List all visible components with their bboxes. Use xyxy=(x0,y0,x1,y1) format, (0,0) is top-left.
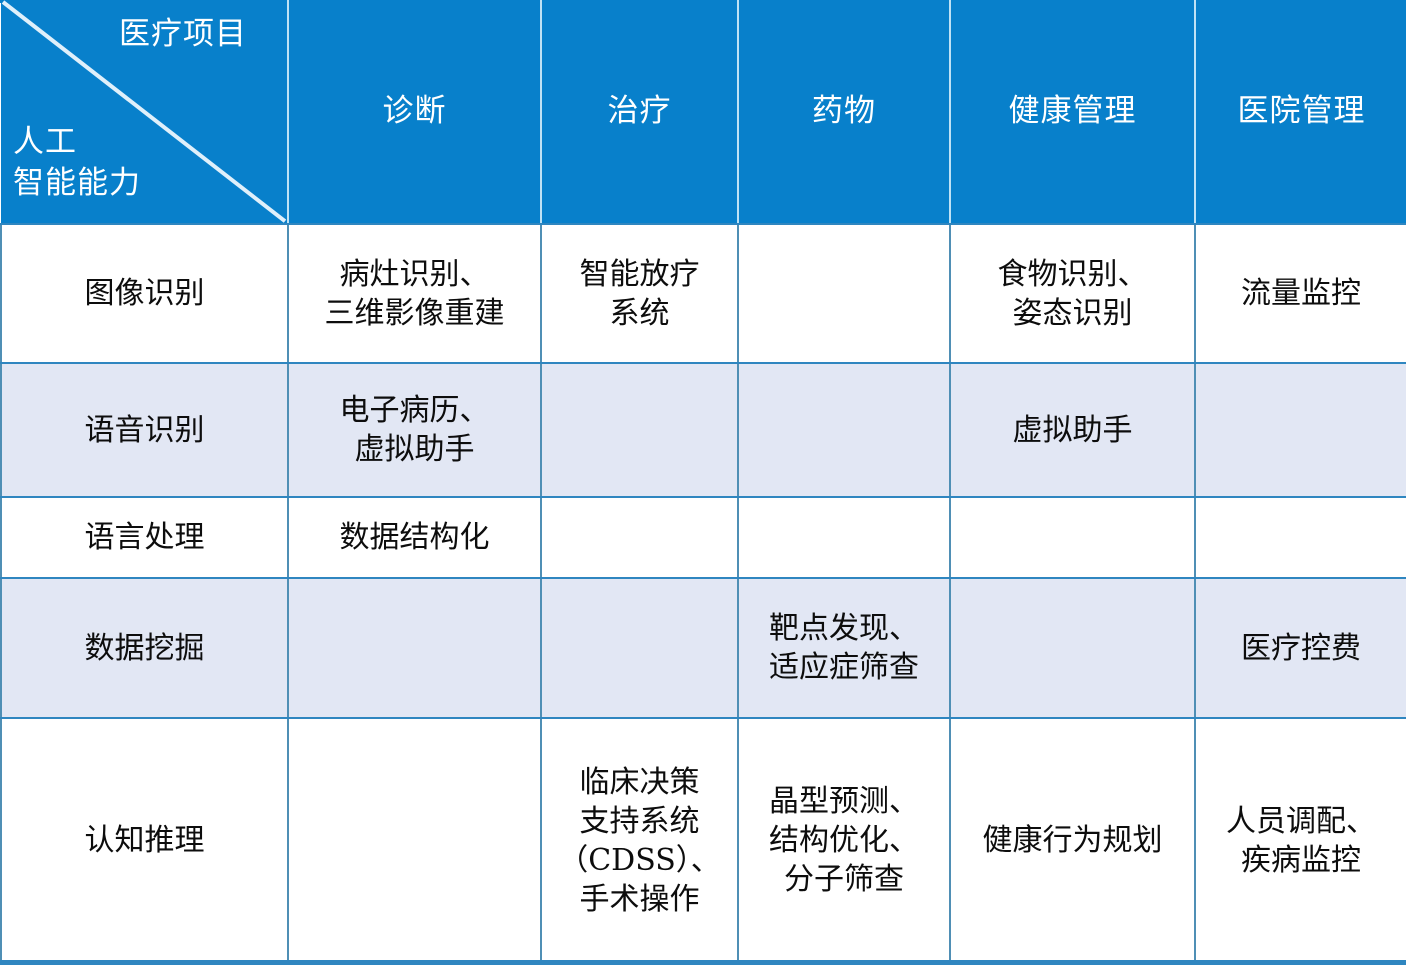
cell-text: 医疗控费 xyxy=(1196,625,1406,672)
cell-language-processing-drug xyxy=(738,497,950,578)
cell-text xyxy=(1196,426,1406,434)
table-row: 认知推理 临床决策 支持系统 （CDSS）、 手术操作 晶型预测、 结构优化、 … xyxy=(1,718,1406,963)
table-row: 图像识别 病灶识别、 三维影像重建 智能放疗 系统 食物识别、 姿态识别 流量监… xyxy=(1,224,1406,363)
cell-text: 病灶识别、 三维影像重建 xyxy=(289,251,540,337)
cell-text: 智能放疗 系统 xyxy=(542,251,737,337)
cell-data-mining-treatment xyxy=(541,578,738,718)
row-header-language-processing: 语言处理 xyxy=(1,497,288,578)
cell-text xyxy=(289,644,540,652)
cell-text: 人员调配、 疾病监控 xyxy=(1196,798,1406,884)
cell-text xyxy=(739,426,949,434)
cell-image-recognition-treatment: 智能放疗 系统 xyxy=(541,224,738,363)
table-header-row: 医疗项目 人工 智能能力 诊断 治疗 药物 健康管理 医院管理 xyxy=(1,0,1406,224)
cell-data-mining-diagnosis xyxy=(288,578,541,718)
row-header-cognitive-reasoning: 认知推理 xyxy=(1,718,288,963)
cell-text xyxy=(542,426,737,434)
table-row: 语音识别 电子病历、 虚拟助手 虚拟助手 xyxy=(1,363,1406,497)
cell-language-processing-hospital-management xyxy=(1195,497,1406,578)
cell-image-recognition-diagnosis: 病灶识别、 三维影像重建 xyxy=(288,224,541,363)
column-header-health-management: 健康管理 xyxy=(950,0,1195,224)
cell-speech-recognition-drug xyxy=(738,363,950,497)
row-header-image-recognition: 图像识别 xyxy=(1,224,288,363)
cell-text: 食物识别、 姿态识别 xyxy=(951,251,1194,337)
cell-text xyxy=(1196,534,1406,542)
cell-cognitive-reasoning-hospital-management: 人员调配、 疾病监控 xyxy=(1195,718,1406,963)
cell-text xyxy=(739,290,949,298)
cell-text: 临床决策 支持系统 （CDSS）、 手术操作 xyxy=(542,759,737,923)
cell-speech-recognition-treatment xyxy=(541,363,738,497)
cell-text xyxy=(739,534,949,542)
table-row: 数据挖掘 靶点发现、 适应症筛查 医疗控费 xyxy=(1,578,1406,718)
cell-image-recognition-health-management: 食物识别、 姿态识别 xyxy=(950,224,1195,363)
cell-data-mining-hospital-management: 医疗控费 xyxy=(1195,578,1406,718)
column-header-treatment: 治疗 xyxy=(541,0,738,224)
cell-cognitive-reasoning-drug: 晶型预测、 结构优化、 分子筛查 xyxy=(738,718,950,963)
cell-text xyxy=(289,837,540,845)
table-bottom-border xyxy=(0,960,1406,965)
axis-corner-cell: 医疗项目 人工 智能能力 xyxy=(1,0,288,224)
row-axis-label: 人工 智能能力 xyxy=(13,122,141,203)
cell-text xyxy=(951,644,1194,652)
column-axis-label: 医疗项目 xyxy=(119,14,247,54)
cell-text: 电子病历、 虚拟助手 xyxy=(289,387,540,473)
row-axis-label-line1: 人工 xyxy=(13,122,141,162)
column-header-hospital-management: 医院管理 xyxy=(1195,0,1406,224)
table-row: 语言处理 数据结构化 xyxy=(1,497,1406,578)
cell-text: 流量监控 xyxy=(1196,270,1406,317)
row-header-speech-recognition: 语音识别 xyxy=(1,363,288,497)
cell-speech-recognition-hospital-management xyxy=(1195,363,1406,497)
row-header-data-mining: 数据挖掘 xyxy=(1,578,288,718)
matrix-table-figure: 医疗项目 人工 智能能力 诊断 治疗 药物 健康管理 医院管理 图像识别 病灶识… xyxy=(0,0,1406,971)
cell-text xyxy=(542,534,737,542)
cell-image-recognition-drug xyxy=(738,224,950,363)
cell-speech-recognition-diagnosis: 电子病历、 虚拟助手 xyxy=(288,363,541,497)
cell-cognitive-reasoning-diagnosis xyxy=(288,718,541,963)
column-header-diagnosis: 诊断 xyxy=(288,0,541,224)
cell-language-processing-health-management xyxy=(950,497,1195,578)
cell-text: 靶点发现、 适应症筛查 xyxy=(739,605,949,691)
cell-text xyxy=(542,644,737,652)
cell-text xyxy=(951,534,1194,542)
cell-text: 数据结构化 xyxy=(289,514,540,561)
cell-speech-recognition-health-management: 虚拟助手 xyxy=(950,363,1195,497)
cell-data-mining-health-management xyxy=(950,578,1195,718)
cell-cognitive-reasoning-treatment: 临床决策 支持系统 （CDSS）、 手术操作 xyxy=(541,718,738,963)
cell-data-mining-drug: 靶点发现、 适应症筛查 xyxy=(738,578,950,718)
row-axis-label-line2: 智能能力 xyxy=(13,163,141,203)
cell-cognitive-reasoning-health-management: 健康行为规划 xyxy=(950,718,1195,963)
cell-language-processing-diagnosis: 数据结构化 xyxy=(288,497,541,578)
cell-image-recognition-hospital-management: 流量监控 xyxy=(1195,224,1406,363)
column-header-drug: 药物 xyxy=(738,0,950,224)
cell-language-processing-treatment xyxy=(541,497,738,578)
ai-healthcare-matrix: 医疗项目 人工 智能能力 诊断 治疗 药物 健康管理 医院管理 图像识别 病灶识… xyxy=(0,0,1406,964)
cell-text: 虚拟助手 xyxy=(951,407,1194,454)
cell-text: 健康行为规划 xyxy=(951,817,1194,864)
cell-text: 晶型预测、 结构优化、 分子筛查 xyxy=(739,778,949,903)
